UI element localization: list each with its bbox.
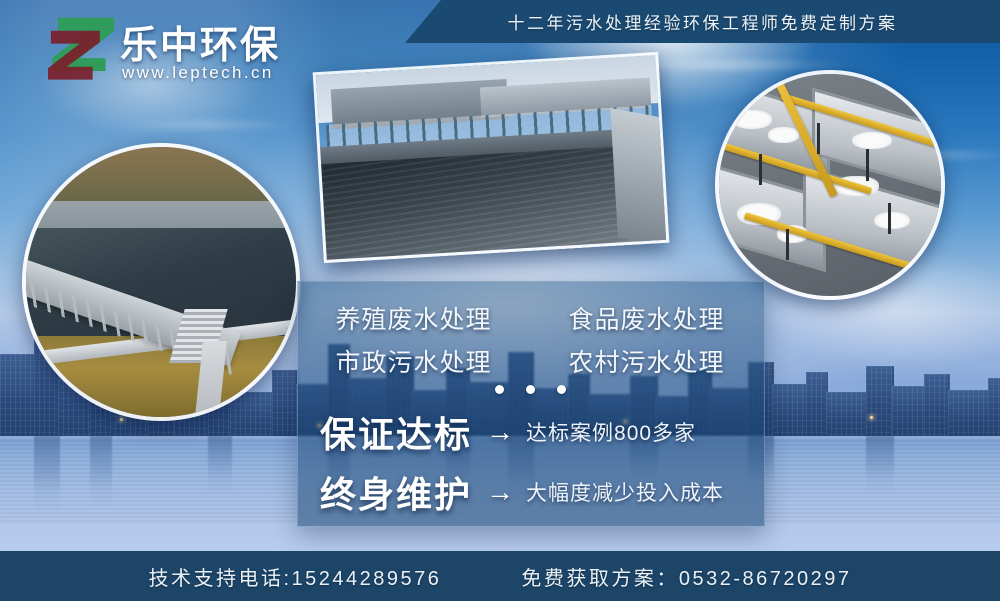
support-phone[interactable]: 技术支持电话:15244289576 [148, 562, 441, 591]
claim-title: 保证达标 [320, 406, 472, 458]
cloud-wisp [120, 120, 300, 130]
footer-bar: 技术支持电话:15244289576 免费获取方案：0532-86720297 [0, 551, 1000, 601]
claim-title: 终身维护 [320, 466, 472, 518]
claim-detail: 达标案例800多家 [526, 417, 696, 447]
services-grid: 养殖废水处理 食品废水处理 市政污水处理 农村污水处理 [297, 296, 763, 382]
header-tagline: 十二年污水处理经验环保工程师免费定制方案 [405, 0, 1000, 43]
promo-banner: 十二年污水处理经验环保工程师免费定制方案 乐中环保 www.leptech.cn [0, 0, 1000, 601]
dot-icon [526, 385, 535, 394]
dots-separator [297, 381, 763, 397]
service-item[interactable]: 农村污水处理 [530, 343, 763, 379]
logo-company-name: 乐中环保 [120, 14, 280, 69]
free-plan-phone[interactable]: 免费获取方案：0532-86720297 [521, 562, 851, 591]
treatment-plant-tanks-photo [313, 52, 670, 263]
aeration-basins-photo [715, 70, 945, 300]
lezhong-z-logo-icon [48, 12, 120, 84]
service-item[interactable]: 养殖废水处理 [297, 300, 530, 336]
arrow-right-icon: → [486, 478, 514, 506]
wastewater-pond-walkway-photo [22, 143, 300, 421]
claim-row: 终身维护 → 大幅度减少投入成本 [320, 464, 750, 520]
claim-detail: 大幅度减少投入成本 [526, 477, 724, 507]
logo-website: www.leptech.cn [122, 63, 274, 83]
city-light [120, 418, 123, 421]
brand-logo[interactable]: 乐中环保 www.leptech.cn [48, 10, 298, 90]
dot-icon [557, 385, 566, 394]
service-item[interactable]: 食品废水处理 [530, 300, 763, 336]
arrow-right-icon: → [486, 418, 514, 446]
city-light [870, 416, 873, 419]
claim-row: 保证达标 → 达标案例800多家 [320, 404, 750, 460]
service-item[interactable]: 市政污水处理 [297, 343, 530, 379]
dot-icon [495, 385, 504, 394]
